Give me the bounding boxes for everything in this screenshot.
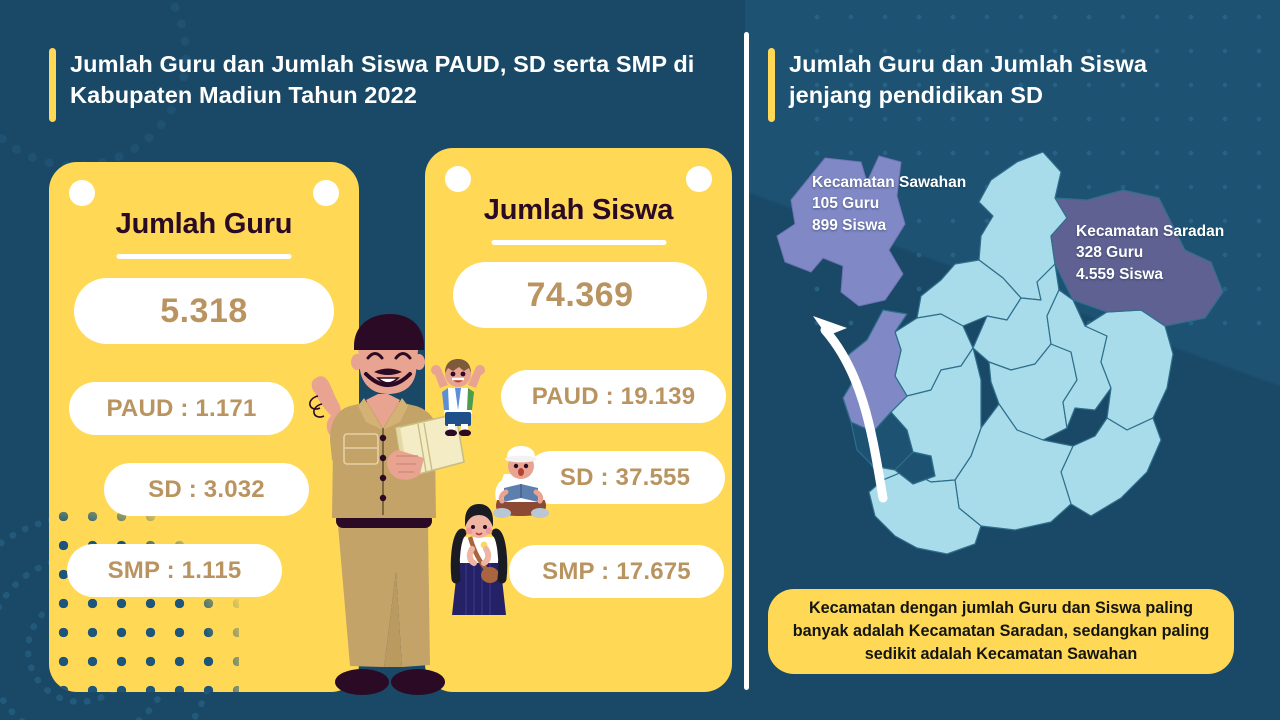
siswa-smp-value: SMP : 17.675 <box>509 545 724 598</box>
left-panel-title: Jumlah Guru dan Jumlah Siswa PAUD, SD se… <box>49 48 709 122</box>
map-annotation-sawahan: Kecamatan Sawahan 105 Guru 899 Siswa <box>812 172 966 236</box>
left-panel: Jumlah Guru dan Jumlah Siswa PAUD, SD se… <box>0 0 745 720</box>
siswa-paud-value: PAUD : 19.139 <box>501 370 726 423</box>
sawahan-teachers: 105 Guru <box>812 193 966 214</box>
card-hole-left-icon <box>69 180 95 206</box>
guru-smp-value: SMP : 1.115 <box>67 544 282 597</box>
card-underline <box>491 240 666 245</box>
sawahan-students: 899 Siswa <box>812 215 966 236</box>
student-cheering-illustration <box>428 358 488 436</box>
map-district-southeast <box>1061 418 1161 516</box>
card-hole-left-icon <box>445 166 471 192</box>
card-heading-siswa: Jumlah Siswa <box>425 194 732 227</box>
sawahan-district-name: Kecamatan Sawahan <box>812 172 966 193</box>
student-girl-illustration <box>448 503 510 625</box>
summary-caption-box: Kecamatan dengan jumlah Guru dan Siswa p… <box>768 589 1234 674</box>
card-underline <box>117 254 292 259</box>
right-title-text: Jumlah Guru dan Jumlah Siswa jenjang pen… <box>789 48 1228 122</box>
card-heading-guru: Jumlah Guru <box>49 208 359 241</box>
left-title-text: Jumlah Guru dan Jumlah Siswa PAUD, SD se… <box>70 48 709 122</box>
card-hole-right-icon <box>686 166 712 192</box>
guru-paud-value: PAUD : 1.171 <box>69 382 294 435</box>
title-accent-bar <box>768 48 775 122</box>
map-callout-arrowhead <box>813 316 847 336</box>
right-panel-title: Jumlah Guru dan Jumlah Siswa jenjang pen… <box>768 48 1228 122</box>
infographic-canvas: Jumlah Guru dan Jumlah Siswa PAUD, SD se… <box>0 0 1280 720</box>
title-accent-bar <box>49 48 56 122</box>
saradan-students: 4.559 Siswa <box>1076 264 1224 285</box>
card-dot-texture <box>49 502 239 692</box>
card-hole-right-icon <box>313 180 339 206</box>
map-annotation-saradan: Kecamatan Saradan 328 Guru 4.559 Siswa <box>1076 221 1224 285</box>
summary-caption-text: Kecamatan dengan jumlah Guru dan Siswa p… <box>784 597 1218 666</box>
saradan-teachers: 328 Guru <box>1076 242 1224 263</box>
saradan-district-name: Kecamatan Saradan <box>1076 221 1224 242</box>
